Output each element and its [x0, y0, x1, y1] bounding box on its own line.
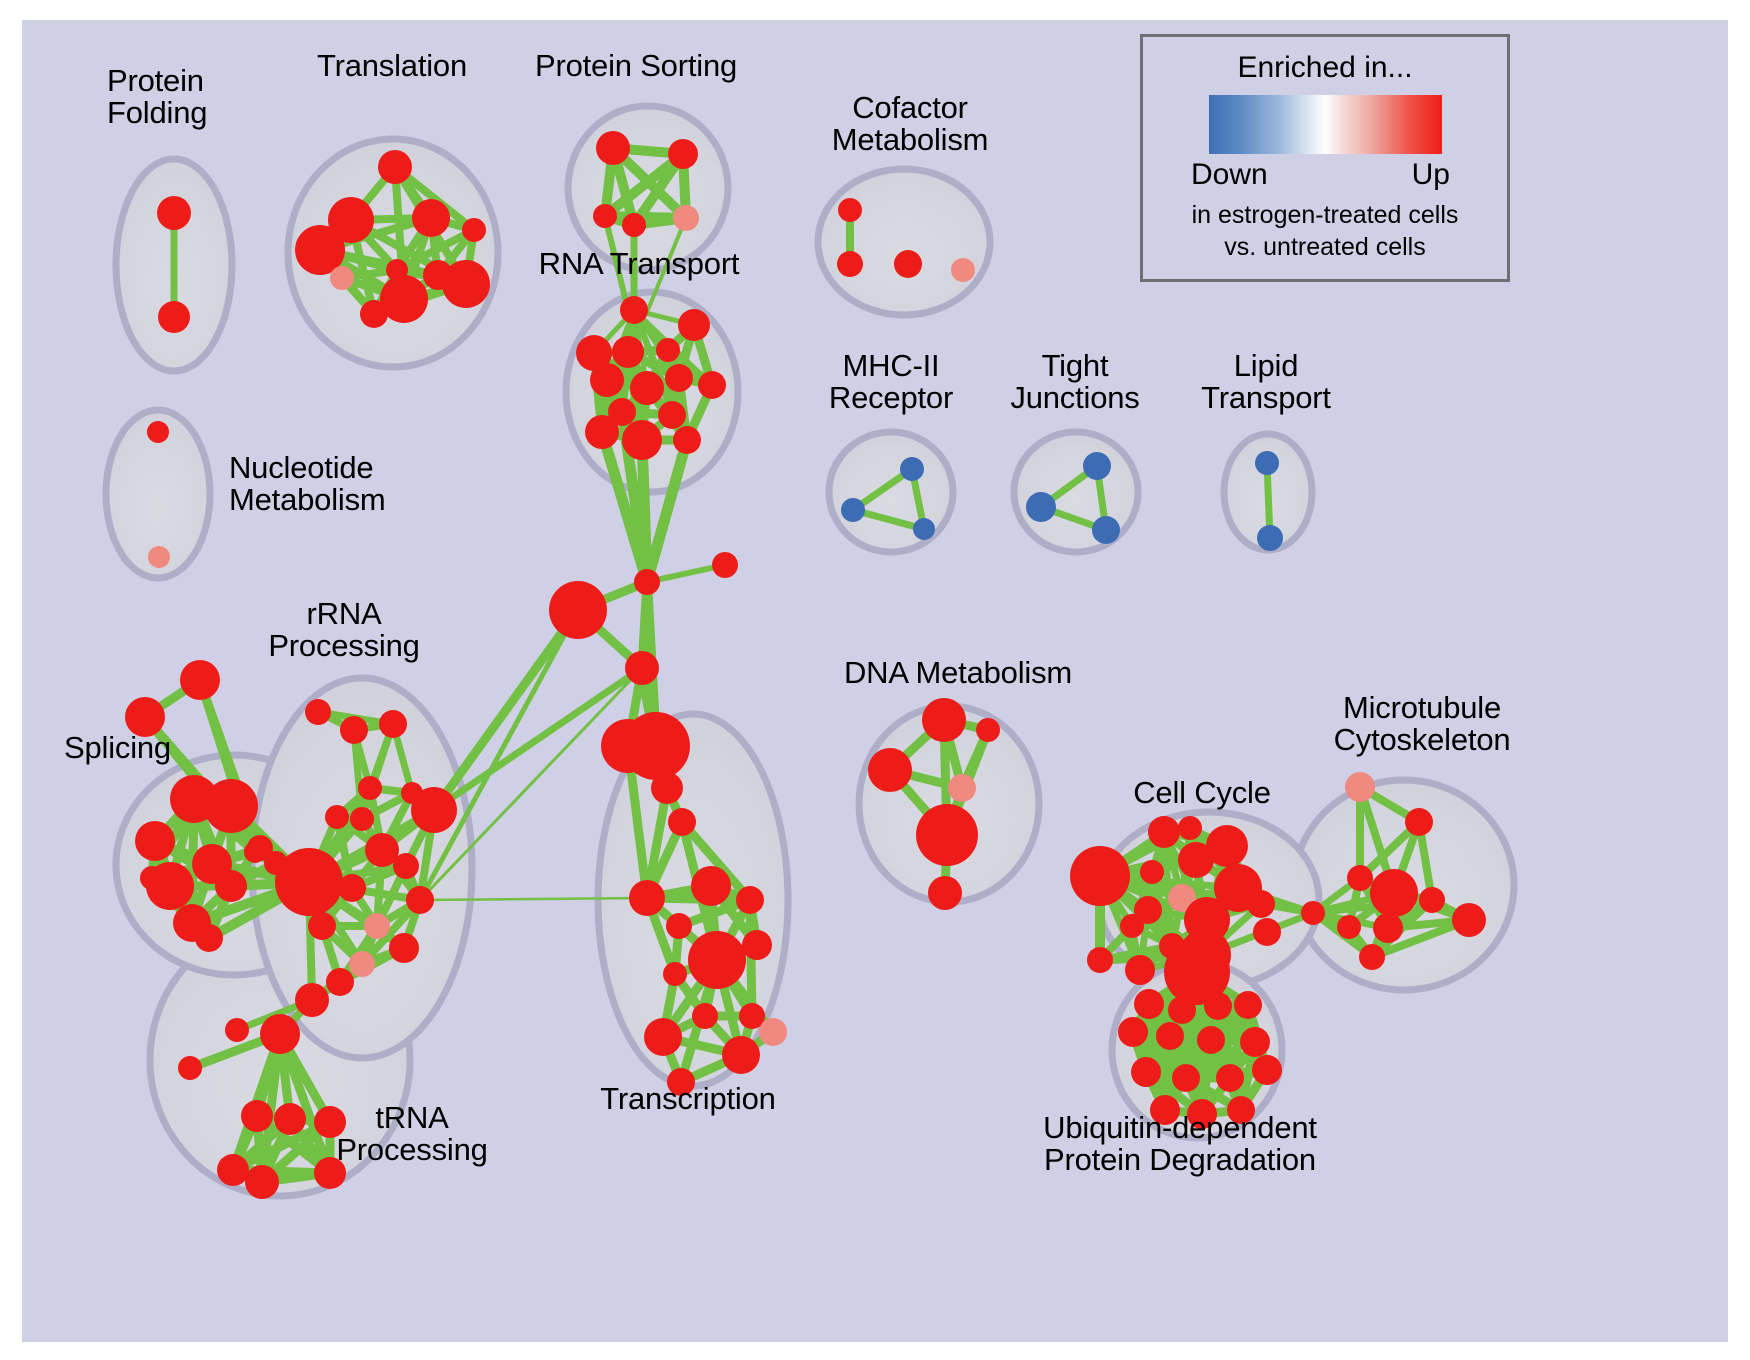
node — [1216, 1064, 1244, 1092]
node — [378, 150, 412, 184]
node — [178, 1056, 202, 1080]
node — [656, 338, 680, 362]
node — [612, 336, 644, 368]
node — [1337, 915, 1361, 939]
node — [135, 821, 175, 861]
node — [622, 213, 646, 237]
node — [1255, 451, 1279, 475]
node — [340, 716, 368, 744]
cluster-label-rna-transport: RNA Transport — [539, 248, 740, 280]
node — [1240, 1027, 1270, 1057]
node — [900, 457, 924, 481]
node — [245, 1165, 279, 1199]
node — [442, 260, 490, 308]
node — [325, 805, 349, 829]
network-canvas: Protein Folding Translation Protein Sort… — [22, 20, 1728, 1342]
node — [148, 546, 170, 568]
cluster-label-lipid-transport: Lipid Transport — [1201, 350, 1331, 414]
cluster-label-nucleotide-metabolism: Nucleotide Metabolism — [229, 452, 386, 516]
cluster-ellipse-cofactor-metabolism — [818, 169, 990, 315]
node — [644, 1018, 682, 1056]
node — [308, 912, 336, 940]
cluster-label-cell-cycle: Cell Cycle — [1133, 777, 1271, 809]
node — [350, 807, 374, 831]
node — [462, 218, 486, 242]
node — [663, 962, 687, 986]
node — [1301, 901, 1325, 925]
node — [1070, 846, 1130, 906]
node — [358, 776, 382, 800]
cluster-label-splicing: Splicing — [64, 732, 171, 764]
node — [868, 748, 912, 792]
node — [1359, 944, 1385, 970]
node — [698, 371, 726, 399]
legend-color-gradient-bar — [1209, 95, 1442, 154]
node — [157, 196, 191, 230]
node — [349, 951, 375, 977]
node — [1178, 816, 1202, 840]
node — [722, 1036, 760, 1074]
node — [951, 258, 975, 282]
node — [665, 364, 693, 392]
cluster-label-ubiquitin-protein-degradation: Ubiquitin-dependent Protein Degradation — [1043, 1112, 1317, 1176]
node — [928, 876, 962, 910]
node — [678, 309, 710, 341]
node — [1345, 772, 1375, 802]
cluster-label-cofactor-metabolism: Cofactor Metabolism — [832, 92, 989, 156]
node — [1140, 860, 1164, 884]
node — [913, 518, 935, 540]
node — [1370, 869, 1418, 917]
node — [1253, 918, 1281, 946]
node — [1092, 516, 1120, 544]
node — [1125, 955, 1155, 985]
node — [406, 886, 434, 914]
node — [1197, 1026, 1225, 1054]
node — [215, 870, 247, 902]
node — [412, 199, 450, 237]
node — [195, 924, 223, 952]
node — [625, 651, 659, 685]
node — [596, 131, 630, 165]
node — [326, 968, 354, 996]
node — [275, 848, 343, 916]
node — [894, 250, 922, 278]
node — [1373, 913, 1403, 943]
node — [411, 787, 457, 833]
node — [1120, 914, 1144, 938]
node — [666, 913, 692, 939]
legend-title: Enriched in... — [1143, 51, 1507, 85]
node — [629, 880, 665, 916]
node — [688, 931, 746, 989]
node — [1134, 989, 1164, 1019]
node — [1247, 890, 1275, 918]
node — [1234, 991, 1262, 1019]
node — [305, 699, 331, 725]
node — [1405, 808, 1433, 836]
node — [1168, 996, 1196, 1024]
node — [364, 913, 390, 939]
node — [295, 983, 329, 1017]
node — [658, 401, 686, 429]
node — [590, 363, 624, 397]
node — [1419, 887, 1445, 913]
node — [976, 718, 1000, 742]
figure-root: Protein Folding Translation Protein Sort… — [0, 0, 1750, 1360]
cluster-label-protein-sorting: Protein Sorting — [535, 50, 737, 82]
node — [1347, 865, 1373, 891]
cluster-label-transcription: Transcription — [600, 1083, 775, 1115]
node — [204, 779, 258, 833]
node — [593, 204, 617, 228]
node — [147, 421, 169, 443]
node — [274, 1103, 306, 1135]
node — [634, 569, 660, 595]
node — [379, 710, 407, 738]
node — [1131, 1057, 1161, 1087]
node — [330, 266, 354, 290]
node — [140, 866, 164, 890]
node — [585, 415, 619, 449]
node — [673, 426, 701, 454]
node — [948, 774, 976, 802]
legend-endpoints: Down Up — [1143, 158, 1507, 198]
node — [180, 660, 220, 700]
node — [692, 1003, 718, 1029]
legend-panel: Enriched in... Down Up in estrogen-treat… — [1140, 34, 1510, 282]
node — [1257, 525, 1283, 551]
node — [1204, 992, 1232, 1020]
cluster-label-mhc-ii-receptor: MHC-II Receptor — [829, 350, 953, 414]
node — [241, 1100, 273, 1132]
node — [1083, 452, 1111, 480]
node — [736, 886, 764, 914]
node — [668, 808, 696, 836]
node — [1118, 1017, 1148, 1047]
legend-up-label: Up — [1412, 158, 1450, 192]
node — [691, 866, 731, 906]
node — [742, 930, 772, 960]
node — [393, 853, 419, 879]
cluster-label-tight-junctions: Tight Junctions — [1010, 350, 1139, 414]
node — [380, 275, 428, 323]
node — [838, 198, 862, 222]
node — [922, 698, 966, 742]
node — [601, 719, 655, 773]
legend-subtitle-line2: vs. untreated cells — [1143, 233, 1507, 262]
node — [673, 205, 699, 231]
node — [1206, 825, 1248, 867]
node — [1156, 1022, 1184, 1050]
node — [668, 139, 698, 169]
legend-subtitle-line1: in estrogen-treated cells — [1143, 201, 1507, 230]
node — [1452, 903, 1486, 937]
cluster-label-translation: Translation — [317, 50, 467, 82]
node — [260, 1014, 300, 1054]
node — [217, 1154, 249, 1186]
node — [841, 498, 865, 522]
node — [1252, 1055, 1282, 1085]
cluster-label-protein-folding: Protein Folding — [107, 65, 207, 129]
node — [651, 772, 683, 804]
node — [759, 1018, 787, 1046]
legend-down-label: Down — [1191, 158, 1268, 192]
cluster-label-rrna-processing: rRNA Processing — [268, 598, 419, 662]
node — [1087, 947, 1113, 973]
node — [1026, 492, 1056, 522]
node — [620, 296, 648, 324]
node — [837, 251, 863, 277]
node — [225, 1018, 249, 1042]
node — [1148, 816, 1180, 848]
node — [622, 420, 662, 460]
node — [244, 841, 266, 863]
cluster-label-microtubule-cytoskeleton: Microtubule Cytoskeleton — [1334, 692, 1511, 756]
node — [712, 552, 738, 578]
cluster-ellipse-mhc-ii-receptor — [829, 432, 953, 552]
node — [916, 804, 978, 866]
node — [549, 581, 607, 639]
cluster-label-dna-metabolism: DNA Metabolism — [844, 657, 1072, 689]
node — [1172, 1064, 1200, 1092]
node — [158, 301, 190, 333]
cluster-label-trna-processing: tRNA Processing — [336, 1102, 487, 1166]
node — [389, 933, 419, 963]
node — [630, 371, 664, 405]
